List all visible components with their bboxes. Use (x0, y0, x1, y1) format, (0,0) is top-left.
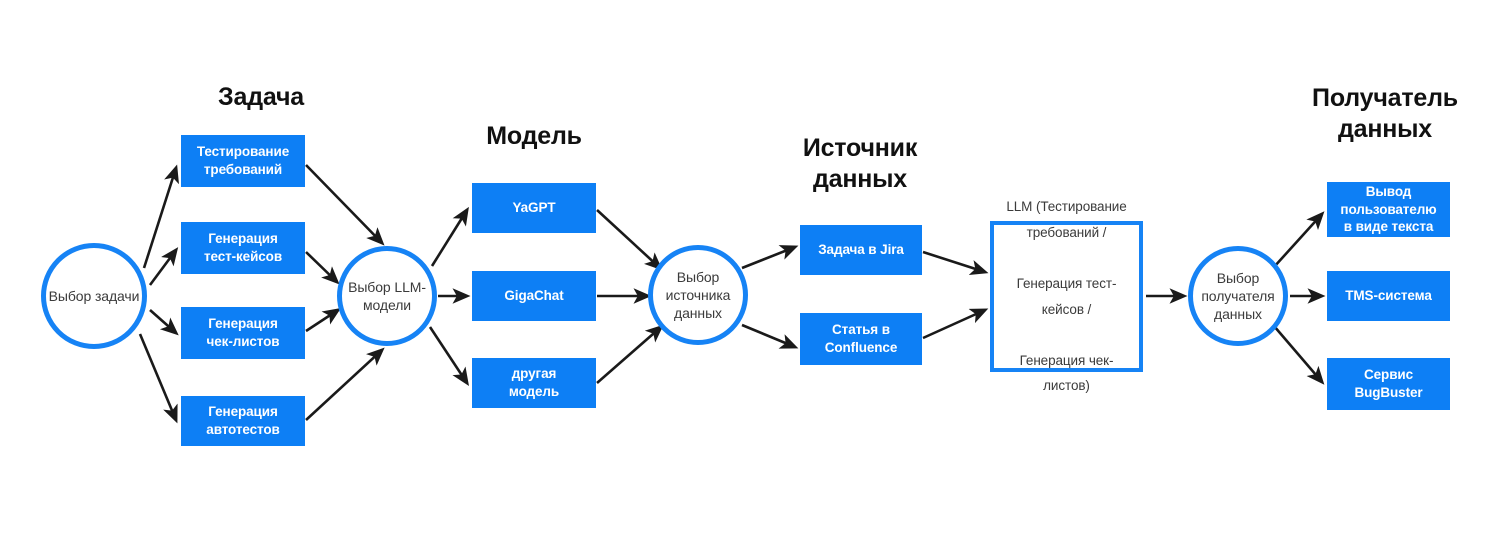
node-circle-choose-data-receiver[interactable]: Выбор получателя данных (1188, 246, 1288, 346)
edge-test-case-generation-to-choose-llm-model (306, 252, 337, 282)
node-box-checklist-generation[interactable]: Генерация чек-листов (181, 307, 305, 359)
section-title-model: Модель (468, 121, 600, 152)
node-box-bugbuster-service[interactable]: Сервис BugBuster (1327, 358, 1450, 410)
node-box-confluence-article[interactable]: Статья в Confluence (800, 313, 922, 365)
section-title-data_receiver: Получатель данных (1305, 83, 1465, 144)
edge-choose-task-to-checklist-generation (150, 310, 176, 333)
node-box-yagpt[interactable]: YaGPT (472, 183, 596, 233)
edge-confluence-article-to-llm-processing (923, 310, 985, 338)
node-circle-choose-task[interactable]: Выбор задачи (41, 243, 147, 349)
flow-diagram-canvas: ЗадачаМодельИсточник данныхПолучатель да… (0, 0, 1491, 556)
node-box-autotest-generation[interactable]: Генерация автотестов (181, 396, 305, 446)
edge-choose-task-to-autotest-generation (140, 334, 176, 420)
edge-choose-data-source-to-confluence-article (742, 325, 795, 347)
node-circle-choose-llm-model[interactable]: Выбор LLM- модели (337, 246, 437, 346)
node-box-requirements-testing[interactable]: Тестирование требований (181, 135, 305, 187)
edge-autotest-generation-to-choose-llm-model (306, 350, 382, 420)
edge-choose-data-receiver-to-bugbuster-service (1274, 326, 1322, 382)
edge-requirements-testing-to-choose-llm-model (306, 165, 382, 243)
node-frame-llm-processing[interactable]: LLM (Тестирование требований / Генерация… (990, 221, 1143, 372)
edge-choose-llm-model-to-yagpt (432, 210, 467, 266)
node-box-test-case-generation[interactable]: Генерация тест-кейсов (181, 222, 305, 274)
edge-yagpt-to-choose-data-source (597, 210, 660, 268)
edge-jira-task-to-llm-processing (923, 252, 985, 272)
node-box-gigachat[interactable]: GigaChat (472, 271, 596, 321)
edge-other-model-to-choose-data-source (597, 327, 661, 383)
edge-checklist-generation-to-choose-llm-model (306, 310, 338, 331)
edge-choose-data-source-to-jira-task (742, 247, 795, 268)
edge-choose-data-receiver-to-text-output-to-user (1274, 214, 1322, 267)
node-box-jira-task[interactable]: Задача в Jira (800, 225, 922, 275)
edge-choose-task-to-requirements-testing (144, 168, 176, 268)
edge-choose-task-to-test-case-generation (150, 250, 176, 285)
edge-choose-llm-model-to-other-model (430, 327, 467, 383)
section-title-task: Задача (196, 82, 326, 113)
section-title-data_source: Источник данных (790, 133, 930, 194)
node-circle-choose-data-source[interactable]: Выбор источника данных (648, 245, 748, 345)
node-box-tms-system[interactable]: TMS-система (1327, 271, 1450, 321)
node-box-other-model[interactable]: другая модель (472, 358, 596, 408)
node-box-text-output-to-user[interactable]: Вывод пользователю в виде текста (1327, 182, 1450, 237)
